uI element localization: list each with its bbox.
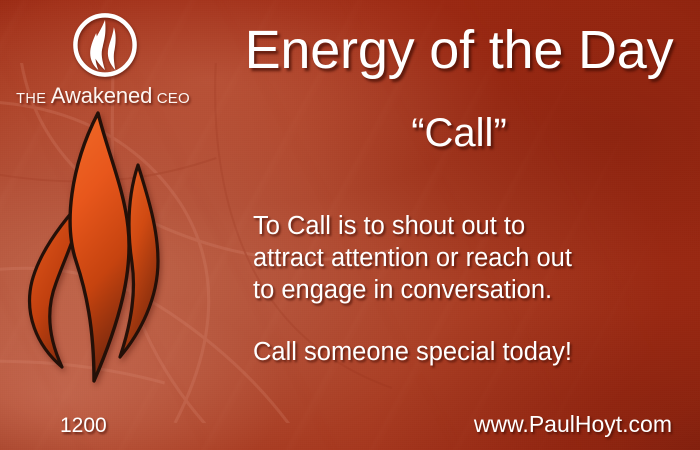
definition-line-1: To Call is to shout out to: [253, 210, 673, 242]
flame-in-circle-icon: [68, 8, 142, 82]
call-to-action-text: Call someone special today!: [253, 336, 673, 368]
three-petal-flame-icon: [22, 105, 194, 397]
page-title: Energy of the Day: [228, 22, 690, 78]
energy-of-the-day-card: THE Awakened CEO: [0, 0, 700, 450]
definition-line-3: to engage in conversation.: [253, 274, 673, 306]
definition-line-2: attract attention or reach out: [253, 242, 673, 274]
website-url[interactable]: www.PaulHoyt.com: [474, 413, 672, 436]
energy-word-subtitle: “Call”: [228, 112, 690, 154]
episode-number: 1200: [60, 415, 107, 436]
definition-text: To Call is to shout out to attract atten…: [253, 210, 673, 306]
brand-wordmark: THE Awakened CEO: [16, 85, 190, 107]
brand-lockup: THE Awakened CEO: [8, 8, 198, 107]
